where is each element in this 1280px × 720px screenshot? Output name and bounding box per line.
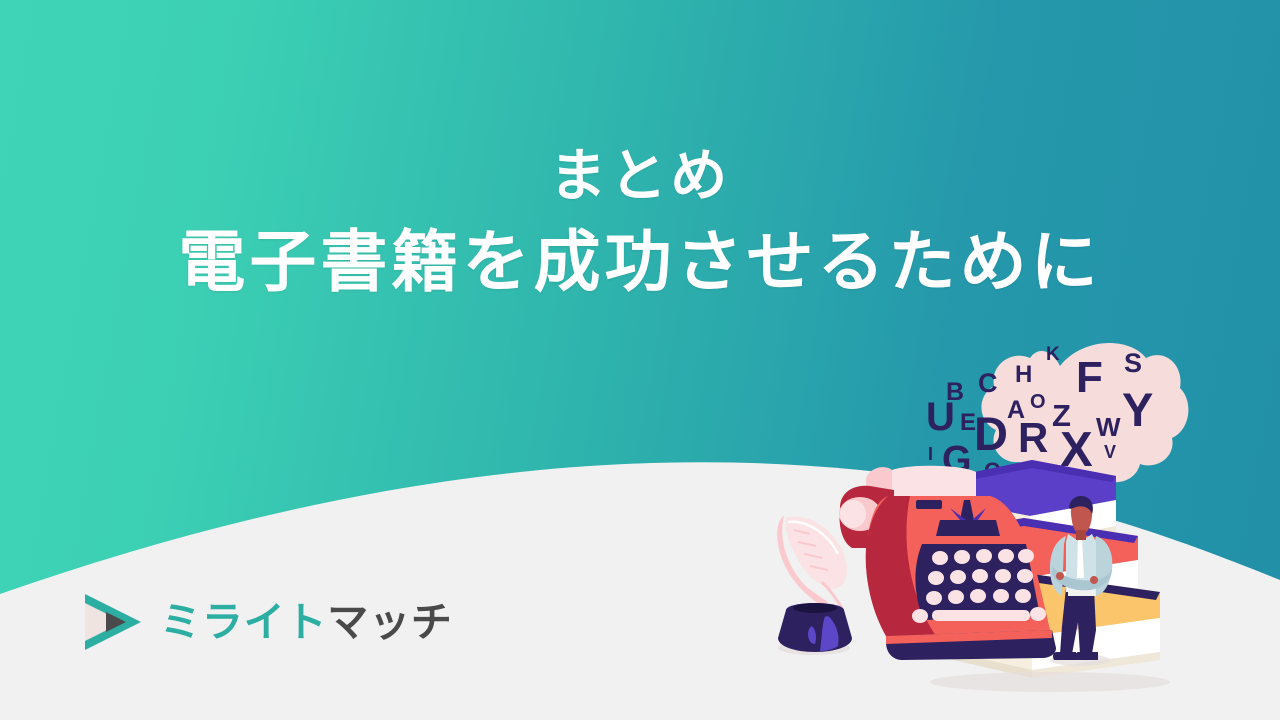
illustration: K H F S C A O Z Y B U E D R X W V bbox=[760, 330, 1220, 720]
quill-pen-icon bbox=[777, 516, 847, 608]
svg-text:U: U bbox=[926, 395, 955, 439]
svg-text:V: V bbox=[1104, 442, 1116, 462]
brand-logo[interactable]: ミライトマッチ bbox=[82, 592, 453, 652]
svg-text:C: C bbox=[978, 368, 998, 398]
svg-text:D: D bbox=[974, 407, 1008, 460]
svg-text:O: O bbox=[1030, 391, 1046, 413]
brand-logo-text: ミライトマッチ bbox=[160, 602, 453, 643]
brand-logo-text-dark: マッチ bbox=[327, 599, 452, 645]
slide-root: まとめ 電子書籍を成功させるために K H F S C A O Z Y B bbox=[0, 0, 1280, 720]
chevron-play-mark-icon bbox=[82, 592, 144, 652]
ink-pot-icon bbox=[777, 516, 852, 655]
svg-text:R: R bbox=[1018, 414, 1048, 461]
slide-title-line-1: まとめ bbox=[0, 142, 1280, 212]
svg-text:S: S bbox=[1124, 348, 1142, 378]
slide-title: まとめ 電子書籍を成功させるために bbox=[0, 142, 1280, 303]
brand-logo-text-teal: ミライト bbox=[160, 599, 327, 645]
svg-text:F: F bbox=[1076, 353, 1103, 402]
slide-title-line-2: 電子書籍を成功させるために bbox=[0, 222, 1280, 304]
svg-text:I: I bbox=[928, 444, 933, 464]
svg-text:Y: Y bbox=[1122, 383, 1153, 436]
svg-text:H: H bbox=[1015, 361, 1032, 388]
svg-text:K: K bbox=[1046, 344, 1060, 365]
svg-text:W: W bbox=[1096, 412, 1121, 442]
